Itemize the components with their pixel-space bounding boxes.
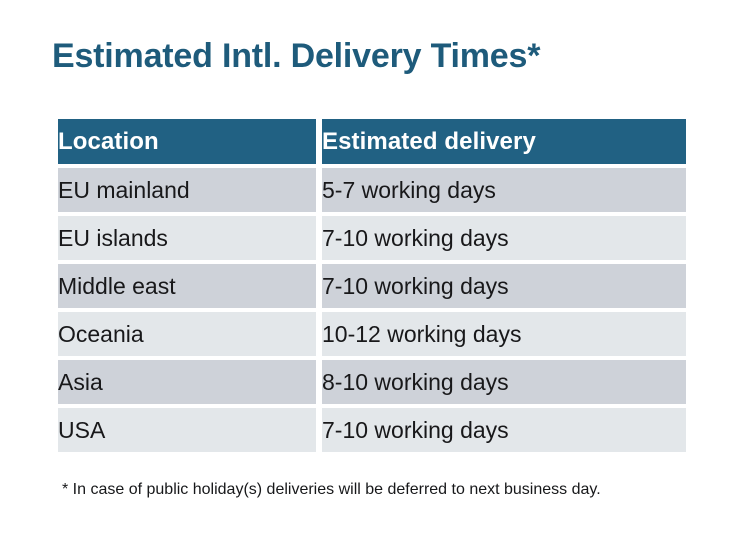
cell-location: Oceania [58, 312, 316, 356]
table-row: Middle east 7-10 working days [58, 264, 686, 308]
footnote-text: * In case of public holiday(s) deliverie… [62, 480, 601, 500]
table-header: Location Estimated delivery [58, 119, 686, 164]
cell-location: EU mainland [58, 168, 316, 212]
table-header-row: Location Estimated delivery [58, 119, 686, 164]
table-row: EU mainland 5-7 working days [58, 168, 686, 212]
table-body: EU mainland 5-7 working days EU islands … [58, 168, 686, 452]
estimated-delivery-table: Location Estimated delivery EU mainland … [52, 115, 692, 456]
cell-delivery: 7-10 working days [322, 216, 686, 260]
column-header-location: Location [58, 119, 316, 164]
cell-location: EU islands [58, 216, 316, 260]
cell-delivery: 7-10 working days [322, 264, 686, 308]
cell-location: Asia [58, 360, 316, 404]
cell-delivery: 8-10 working days [322, 360, 686, 404]
cell-delivery: 10-12 working days [322, 312, 686, 356]
cell-delivery: 5-7 working days [322, 168, 686, 212]
cell-delivery: 7-10 working days [322, 408, 686, 452]
delivery-times-page: Estimated Intl. Delivery Times* Location… [0, 0, 745, 536]
cell-location: USA [58, 408, 316, 452]
table-row: EU islands 7-10 working days [58, 216, 686, 260]
cell-location: Middle east [58, 264, 316, 308]
column-header-estimated-delivery: Estimated delivery [322, 119, 686, 164]
table-row: USA 7-10 working days [58, 408, 686, 452]
table-row: Oceania 10-12 working days [58, 312, 686, 356]
table-row: Asia 8-10 working days [58, 360, 686, 404]
page-title: Estimated Intl. Delivery Times* [52, 36, 540, 76]
